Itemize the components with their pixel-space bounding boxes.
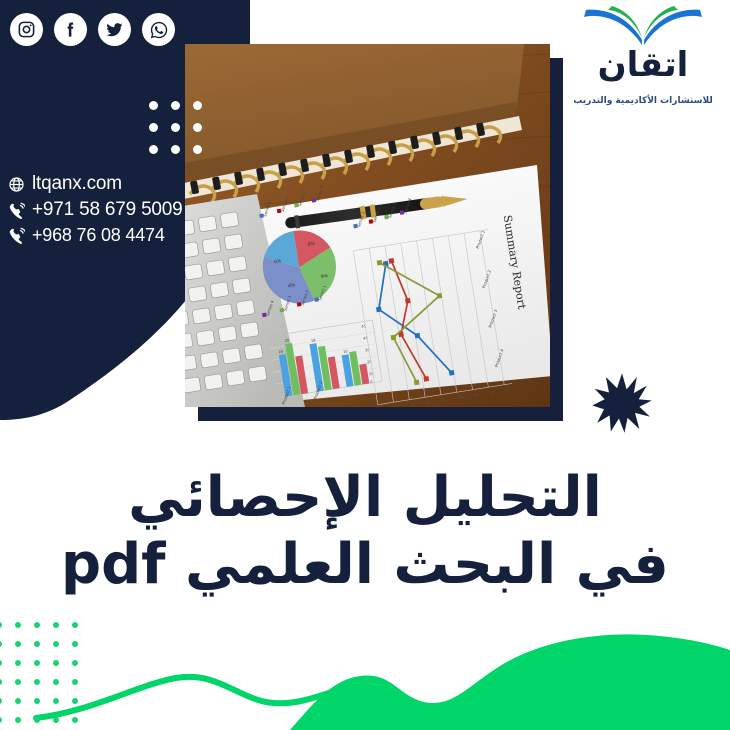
dot (15, 641, 21, 647)
phone-uae-text: +971 58 679 5009 (32, 199, 183, 221)
whatsapp-icon (149, 20, 169, 40)
dot (0, 717, 2, 723)
dot (72, 660, 78, 666)
dot (34, 622, 40, 628)
page-title: التحليل الإحصائي في البحث العلمي pdf (0, 468, 730, 595)
dot (0, 641, 2, 647)
dot (53, 660, 59, 666)
dot (34, 679, 40, 685)
logo-wordmark: اتقان (569, 45, 717, 90)
dot (149, 123, 158, 132)
dot (15, 698, 21, 704)
website-text: ltqanx.com (32, 173, 122, 195)
poster-canvas: ltqanx.com +971 58 679 5009 +968 76 08 (0, 0, 730, 730)
social-links (10, 13, 175, 46)
social-link-twitter[interactable] (98, 13, 131, 46)
dot (193, 145, 202, 154)
phone-icon (8, 227, 25, 244)
title-line-2: في البحث العلمي pdf (0, 535, 730, 594)
globe-icon (8, 176, 25, 193)
dot (15, 717, 21, 723)
svg-text:اتقان: اتقان (598, 45, 689, 85)
title-line-1: التحليل الإحصائي (0, 468, 730, 527)
dot (34, 698, 40, 704)
phone-oman-text: +968 76 08 4474 (32, 225, 165, 246)
contact-block: ltqanx.com +971 58 679 5009 +968 76 08 (8, 173, 183, 250)
dot (0, 660, 2, 666)
dot (171, 101, 180, 110)
dot (193, 101, 202, 110)
statistics-report-photo: Summary Report Series 1 Series 2 Series … (185, 44, 550, 407)
green-wave-shape (0, 600, 730, 730)
dot (53, 622, 59, 628)
dot (15, 679, 21, 685)
dot-grid-white (149, 101, 215, 167)
dot (0, 622, 2, 628)
dot-grid-green (0, 622, 91, 730)
social-link-facebook[interactable] (54, 13, 87, 46)
contact-phone-uae[interactable]: +971 58 679 5009 (8, 199, 183, 221)
social-link-whatsapp[interactable] (142, 13, 175, 46)
dot (53, 717, 59, 723)
contact-website[interactable]: ltqanx.com (8, 173, 183, 195)
dot (171, 145, 180, 154)
dot (149, 145, 158, 154)
starburst-icon (591, 372, 653, 434)
brand-logo[interactable]: اتقان للاستشارات الأكاديمية والتدريب (569, 4, 717, 112)
dot (53, 641, 59, 647)
facebook-icon (61, 20, 80, 39)
dot (171, 123, 180, 132)
dot (34, 717, 40, 723)
open-book-icon (569, 4, 717, 51)
dot (34, 641, 40, 647)
twitter-icon (105, 20, 124, 39)
dot (193, 123, 202, 132)
dot (149, 101, 158, 110)
dot (15, 622, 21, 628)
dot (34, 660, 40, 666)
dot (0, 679, 2, 685)
dot (72, 641, 78, 647)
instagram-icon (17, 20, 36, 39)
contact-phone-oman[interactable]: +968 76 08 4474 (8, 225, 183, 246)
dot (72, 717, 78, 723)
dot (53, 698, 59, 704)
logo-tagline: للاستشارات الأكاديمية والتدريب (569, 91, 717, 112)
dot (72, 622, 78, 628)
phone-icon (8, 202, 25, 219)
dot (72, 679, 78, 685)
social-link-instagram[interactable] (10, 13, 43, 46)
dot (15, 660, 21, 666)
svg-text:للاستشارات الأكاديمية والتدريب: للاستشارات الأكاديمية والتدريب (573, 94, 712, 106)
dot (0, 698, 2, 704)
dot (53, 679, 59, 685)
dot (72, 698, 78, 704)
